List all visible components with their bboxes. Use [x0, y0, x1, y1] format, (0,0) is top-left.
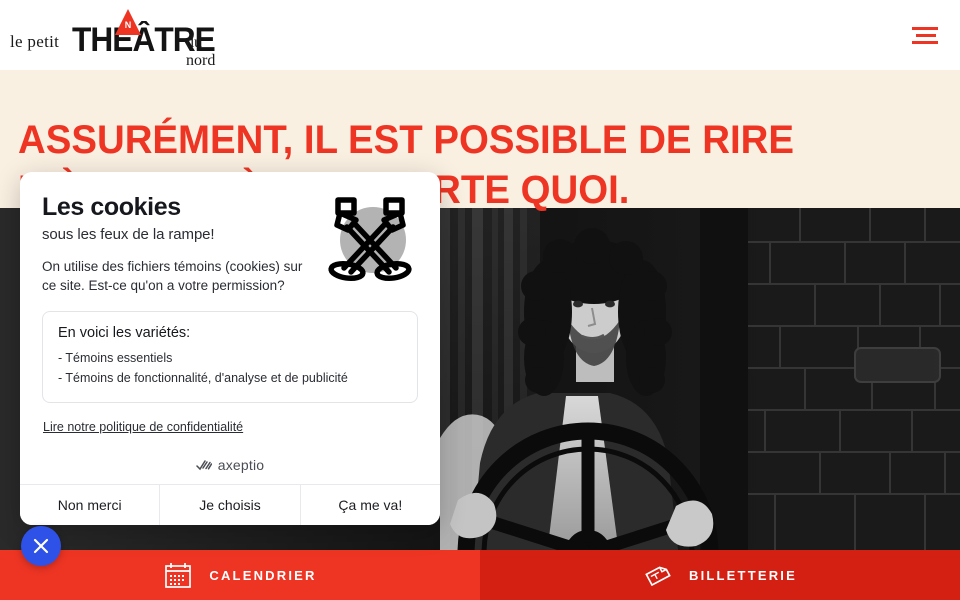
cookie-dialog-body: Les cookies sous les feux de la rampe! O… [20, 172, 440, 484]
cookie-varieties-box: En voici les variétés: - Témoins essenti… [42, 311, 418, 403]
cookie-varieties-title: En voici les variétés: [58, 325, 402, 341]
hamburger-menu-icon[interactable] [912, 24, 938, 46]
cookie-decline-button[interactable]: Non merci [20, 485, 159, 525]
close-icon [32, 537, 50, 555]
site-header: le petit THÉÂTRE du nord N [0, 0, 960, 70]
logo-text-pre: le petit [10, 32, 59, 52]
privacy-policy-link[interactable]: Lire notre politique de confidentialité [43, 420, 243, 434]
cookie-dialog-description: On utilise des fichiers témoins (cookies… [42, 257, 310, 295]
page-root: le petit THÉÂTRE du nord N ASSURÉMENT, I… [0, 0, 960, 600]
cookie-variety-item: - Témoins essentiels [58, 348, 402, 368]
cookie-accept-button[interactable]: Ça me va! [300, 485, 440, 525]
bottom-nav-billetterie-label: BILLETTERIE [689, 568, 797, 583]
cookie-dialog-header: Les cookies sous les feux de la rampe! O… [42, 192, 418, 295]
site-logo[interactable]: le petit THÉÂTRE du nord N [10, 9, 235, 61]
ticket-icon [643, 560, 673, 590]
cookie-dialog-actions: Non merci Je choisis Ça me va! [20, 484, 440, 525]
close-widget-button[interactable] [21, 526, 61, 566]
cookie-variety-item: - Témoins de fonctionnalité, d'analyse e… [58, 368, 402, 388]
bottom-nav: CALENDRIER BILLETTERIE [0, 550, 960, 600]
calendar-icon [163, 560, 193, 590]
bottom-nav-calendrier[interactable]: CALENDRIER [0, 550, 480, 600]
axeptio-vendor-name: axeptio [218, 457, 265, 473]
logo-text-post: du nord [186, 34, 235, 70]
compass-north-arrow-icon: N [115, 9, 141, 35]
axeptio-logo-icon [196, 459, 212, 471]
cookie-consent-dialog: Les cookies sous les feux de la rampe! O… [20, 172, 440, 525]
bottom-nav-billetterie[interactable]: BILLETTERIE [480, 550, 960, 600]
bottom-nav-calendrier-label: CALENDRIER [209, 568, 316, 583]
cookie-choose-button[interactable]: Je choisis [159, 485, 299, 525]
axeptio-branding: axeptio [42, 446, 418, 484]
crossed-spotlights-icon [320, 196, 420, 288]
logo-badge-letter: N [115, 20, 141, 30]
